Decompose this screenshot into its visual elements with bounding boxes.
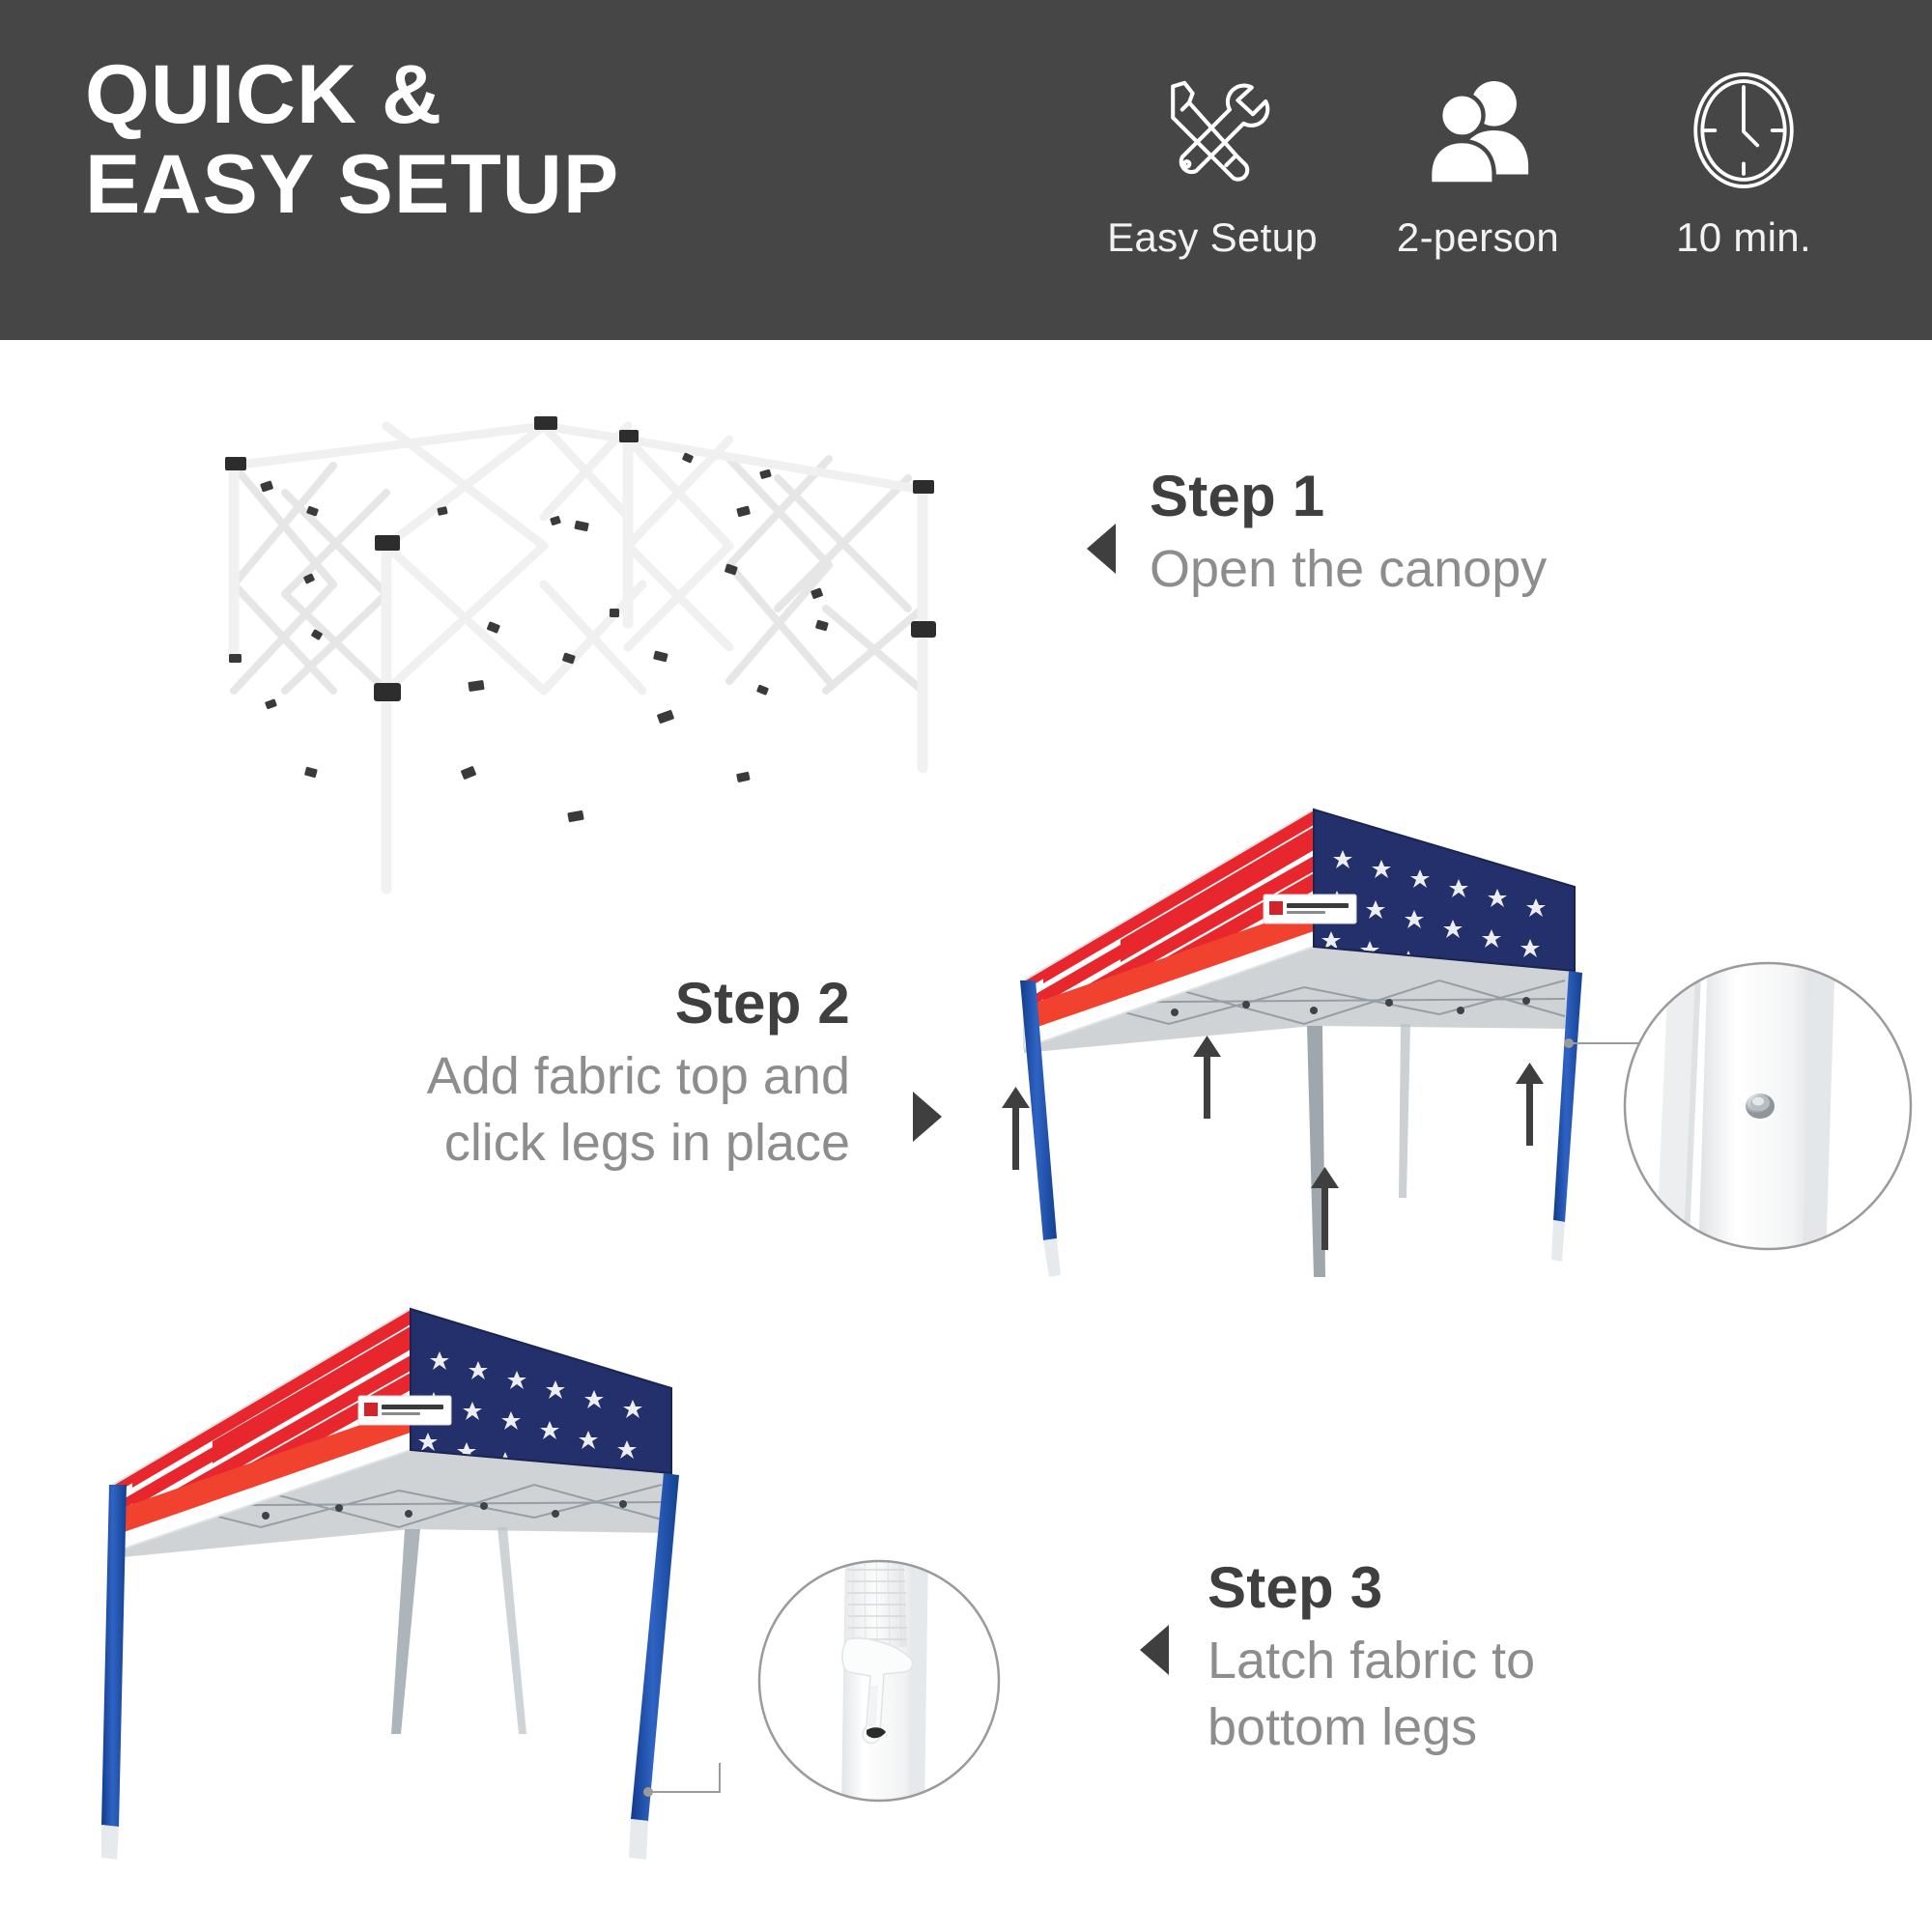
triangle-right-icon	[913, 1092, 942, 1142]
page-title-line1: QUICK &	[85, 48, 442, 141]
feature-duration: 10 min.	[1623, 68, 1864, 261]
illustration-canopy-step3	[72, 1280, 768, 1869]
step-3-description-line1: Latch fabric to	[1207, 1628, 1535, 1694]
illustration-canopy-step2	[985, 782, 1662, 1362]
two-people-icon	[1419, 68, 1537, 193]
step-3-description-line2: bottom legs	[1207, 1694, 1535, 1761]
step-2-description: Add fabric top and click legs in place	[290, 1043, 850, 1177]
step-2-block: Step 2 Add fabric top and click legs in …	[290, 971, 850, 1177]
setup-instructions-page: QUICK & EASY SETUP Easy Setup	[0, 0, 1932, 1932]
detail-callout-leg-pin	[1613, 952, 1922, 1261]
step-1-description: Open the canopy	[1150, 536, 1547, 603]
illustration-canopy-frame: .bar{stroke:#f0f0f0;stroke-width:9;strok…	[188, 401, 961, 903]
step-1-block: Step 1 Open the canopy	[1150, 464, 1547, 603]
feature-easy-setup-label: Easy Setup	[1107, 214, 1318, 261]
page-title-line2: EASY SETUP	[85, 140, 619, 230]
feature-two-person-label: 2-person	[1397, 214, 1559, 261]
triangle-left-icon	[1087, 524, 1116, 574]
header-bar: QUICK & EASY SETUP Easy Setup	[0, 0, 1932, 340]
feature-list: Easy Setup 2-person	[1092, 68, 1864, 290]
up-arrow-icon	[1002, 1036, 1544, 1250]
feature-two-person: 2-person	[1357, 68, 1599, 261]
brand-badge	[358, 1396, 451, 1425]
detail-callout-strap-latch	[749, 1550, 1009, 1811]
step-3-block: Step 3 Latch fabric to bottom legs	[1207, 1555, 1535, 1761]
clock-icon	[1686, 68, 1802, 193]
callout-connector	[648, 1763, 720, 1792]
step-3-description: Latch fabric to bottom legs	[1207, 1628, 1535, 1761]
step-3-title: Step 3	[1207, 1555, 1535, 1620]
feature-easy-setup: Easy Setup	[1092, 68, 1333, 261]
triangle-left-icon	[1140, 1625, 1169, 1675]
page-title: QUICK & EASY SETUP	[85, 50, 619, 230]
step-2-description-line1: Add fabric top and	[290, 1043, 850, 1110]
feature-duration-label: 10 min.	[1676, 214, 1811, 261]
brand-badge	[1264, 895, 1356, 923]
tools-wrench-screwdriver-icon	[1154, 68, 1270, 193]
step-2-title: Step 2	[290, 971, 850, 1036]
step-1-title: Step 1	[1150, 464, 1547, 528]
step-2-description-line2: click legs in place	[290, 1110, 850, 1177]
